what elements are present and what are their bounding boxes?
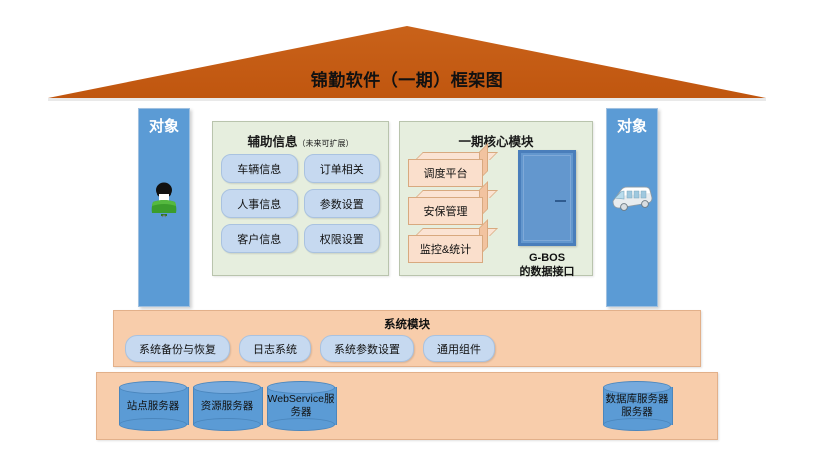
system-module-item-list: 系统备份与恢复 日志系统 系统参数设置 通用组件 bbox=[125, 335, 495, 362]
core-module-monitoring-statistics-label: 监控&统计 bbox=[408, 235, 483, 263]
person-icon bbox=[144, 181, 184, 226]
page-title: 锦勤软件（一期）框架图 bbox=[48, 66, 766, 91]
server-site-server-label: 站点服务器 bbox=[119, 389, 187, 423]
core-module-title: 一期核心模块 bbox=[400, 131, 592, 150]
core-module-panel: 一期核心模块 调度平台 安保管理 监控&统计 bbox=[399, 121, 593, 276]
system-item-common-components[interactable]: 通用组件 bbox=[423, 335, 495, 362]
aux-item-order-related[interactable]: 订单相关 bbox=[304, 154, 381, 183]
auxiliary-info-title: 辅助信息（未来可扩展） bbox=[213, 131, 388, 150]
pillar-right-object: 对象 bbox=[606, 108, 658, 307]
pillar-right-label: 对象 bbox=[607, 115, 657, 136]
bus-icon bbox=[609, 181, 655, 220]
server-database-server-label: 数据库服务器服务器 bbox=[603, 389, 671, 423]
pillar-left-object: 对象 bbox=[138, 108, 190, 307]
system-item-backup-restore[interactable]: 系统备份与恢复 bbox=[125, 335, 230, 362]
aux-item-vehicle-info[interactable]: 车辆信息 bbox=[221, 154, 298, 183]
system-module-title: 系统模块 bbox=[114, 316, 700, 332]
gbos-interface-group: G-BOS 的数据接口 bbox=[508, 150, 586, 279]
server-webservice-server-label: WebService服务器 bbox=[267, 389, 335, 423]
auxiliary-info-subtitle: （未来可扩展） bbox=[298, 139, 354, 148]
auxiliary-info-grid: 车辆信息 订单相关 人事信息 参数设置 客户信息 权限设置 bbox=[221, 154, 380, 253]
core-module-monitoring-statistics[interactable]: 监控&统计 bbox=[408, 228, 488, 254]
gbos-interface-label-line2: 的数据接口 bbox=[508, 265, 586, 279]
door-icon[interactable] bbox=[518, 150, 576, 246]
aux-item-parameter-settings[interactable]: 参数设置 bbox=[304, 189, 381, 218]
pillar-left-label: 对象 bbox=[139, 115, 189, 136]
core-module-dispatch-platform[interactable]: 调度平台 bbox=[408, 152, 488, 178]
gbos-interface-label: G-BOS 的数据接口 bbox=[508, 251, 586, 279]
server-site-server[interactable]: 站点服务器 bbox=[119, 381, 187, 431]
system-item-log-system[interactable]: 日志系统 bbox=[239, 335, 311, 362]
roof-shape: 锦勤软件（一期）框架图 bbox=[48, 26, 766, 100]
auxiliary-info-title-main: 辅助信息 bbox=[247, 135, 297, 149]
core-module-dispatch-platform-label: 调度平台 bbox=[408, 159, 483, 187]
aux-item-hr-info[interactable]: 人事信息 bbox=[221, 189, 298, 218]
door-handle-icon bbox=[555, 200, 566, 202]
server-resource-server[interactable]: 资源服务器 bbox=[193, 381, 261, 431]
diagram-canvas: 锦勤软件（一期）框架图 对象 对象 bbox=[0, 0, 813, 466]
system-item-system-parameter-settings[interactable]: 系统参数设置 bbox=[320, 335, 414, 362]
system-module-band: 系统模块 系统备份与恢复 日志系统 系统参数设置 通用组件 bbox=[113, 310, 701, 367]
gbos-interface-label-line1: G-BOS bbox=[508, 251, 586, 265]
core-module-security-management[interactable]: 安保管理 bbox=[408, 190, 488, 216]
aux-item-permission-settings[interactable]: 权限设置 bbox=[304, 224, 381, 253]
server-base-layer: 站点服务器 资源服务器 WebService服务器 数据库服务器服务器 bbox=[96, 372, 718, 440]
auxiliary-info-panel: 辅助信息（未来可扩展） 车辆信息 订单相关 人事信息 参数设置 客户信息 权限设… bbox=[212, 121, 389, 276]
server-webservice-server[interactable]: WebService服务器 bbox=[267, 381, 335, 431]
server-database-server[interactable]: 数据库服务器服务器 bbox=[603, 381, 671, 431]
door-inner-panel bbox=[523, 155, 571, 241]
core-module-security-management-label: 安保管理 bbox=[408, 197, 483, 225]
aux-item-customer-info[interactable]: 客户信息 bbox=[221, 224, 298, 253]
core-module-box-list: 调度平台 安保管理 监控&统计 bbox=[408, 152, 500, 266]
server-resource-server-label: 资源服务器 bbox=[193, 389, 261, 423]
